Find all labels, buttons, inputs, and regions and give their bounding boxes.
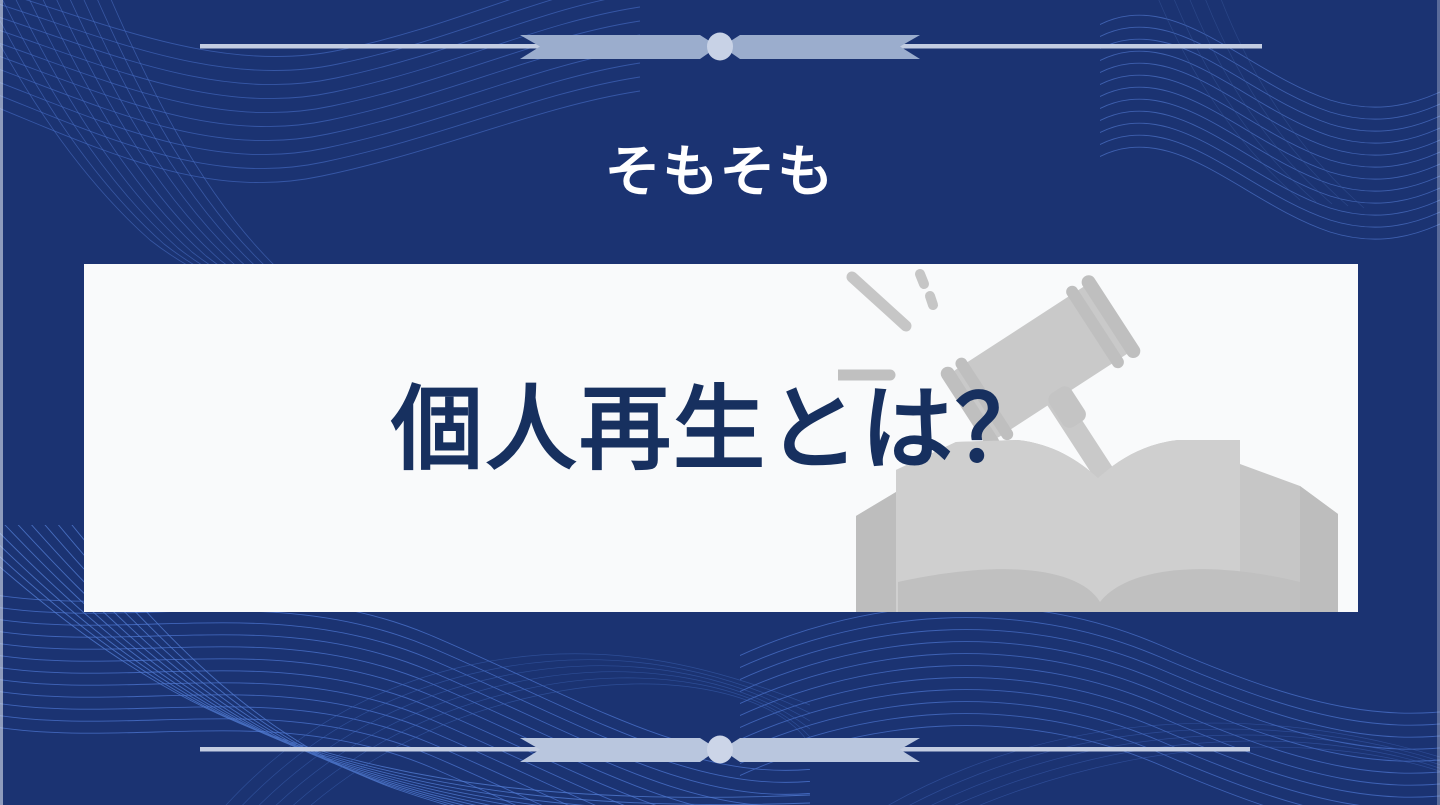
center-dot [707,33,733,61]
ornament-arrow-left [520,738,718,762]
slide-canvas: そもそも [0,0,1440,805]
eyebrow-text: そもそも [0,140,1440,204]
page-title: 個人再生とは？ [0,380,1440,481]
impact-dash-small [920,274,924,284]
center-dot [707,736,733,764]
bottom-ornamental-divider [0,721,1440,781]
impact-line-long [852,277,906,326]
ornament-arrow-left [520,35,718,59]
ornament-arrow-right [722,738,920,762]
ornament-arrow-right [722,35,920,59]
top-ornamental-divider [0,18,1440,78]
impact-dash-tiny [930,296,933,305]
